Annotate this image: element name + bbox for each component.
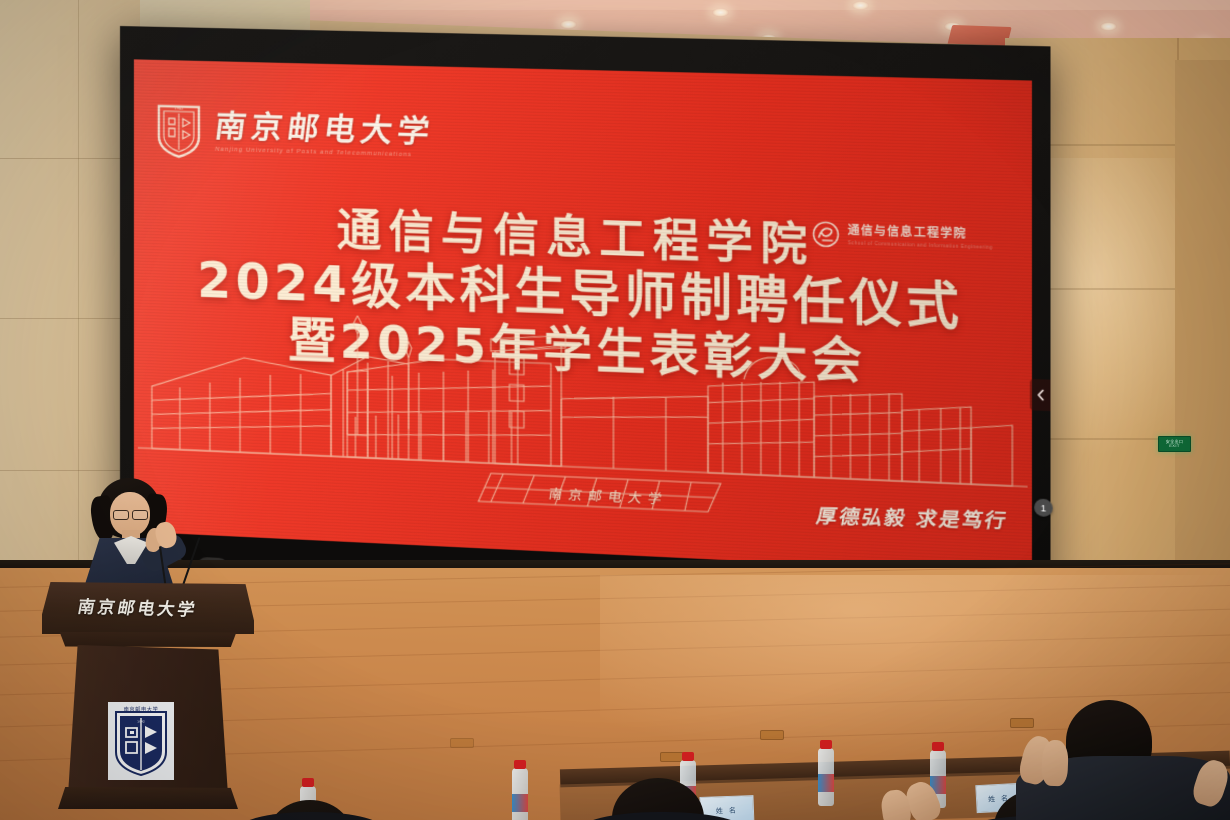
speaker-person: [70, 478, 200, 598]
audience-clapping-hand: [1041, 740, 1069, 787]
podium: 南京邮电大学 南京邮电大学 1942: [42, 582, 254, 820]
ceiling-downlight: [1100, 22, 1117, 31]
ceiling-downlight: [852, 1, 869, 10]
svg-text:1942: 1942: [174, 106, 183, 110]
svg-text:1942: 1942: [137, 720, 145, 724]
floor-outlet: [760, 730, 784, 740]
floor-outlet: [450, 738, 474, 748]
ceiling-edge: [300, 0, 1230, 10]
water-bottle: [818, 748, 834, 806]
floor-outlet: [1010, 718, 1034, 728]
chevron-left-icon: [1035, 389, 1046, 402]
ceiling-downlight: [712, 8, 729, 17]
water-bottle: [512, 768, 528, 820]
edge-collapse-tab[interactable]: [1030, 379, 1051, 411]
podium-base: [58, 787, 238, 809]
screen-content-area: 1942 南京邮电大学 Nanjing University of Posts …: [134, 59, 1032, 574]
eyeglasses-icon: [113, 510, 129, 520]
led-display-screen[interactable]: 1942 南京邮电大学 Nanjing University of Posts …: [120, 26, 1051, 618]
eyeglasses-icon: [132, 510, 148, 520]
university-name-calligraphy: 南京邮电大学: [213, 111, 436, 148]
emergency-exit-sign: 安全出口 EXIT: [1158, 436, 1191, 452]
university-shield-crest-icon: 1942: [156, 102, 202, 159]
podium-nameplate: 南京邮电大学: [76, 592, 200, 620]
university-motto: 厚德弘毅 求是笃行: [815, 501, 1011, 534]
podium-lip: [56, 632, 240, 647]
screen-header: 1942 南京邮电大学 Nanjing University of Posts …: [156, 102, 434, 166]
podium-emblem-top-text: 南京邮电大学: [124, 705, 159, 713]
ceiling-downlight: [560, 20, 577, 29]
page-badge[interactable]: 1: [1034, 498, 1053, 517]
exit-sign-line2: EXIT: [1169, 443, 1180, 448]
screenshot-root: 安全出口 EXIT 1942 南京邮电大学: [0, 0, 1230, 820]
university-shield-emblem-icon: 南京邮电大学 1942: [108, 702, 174, 780]
